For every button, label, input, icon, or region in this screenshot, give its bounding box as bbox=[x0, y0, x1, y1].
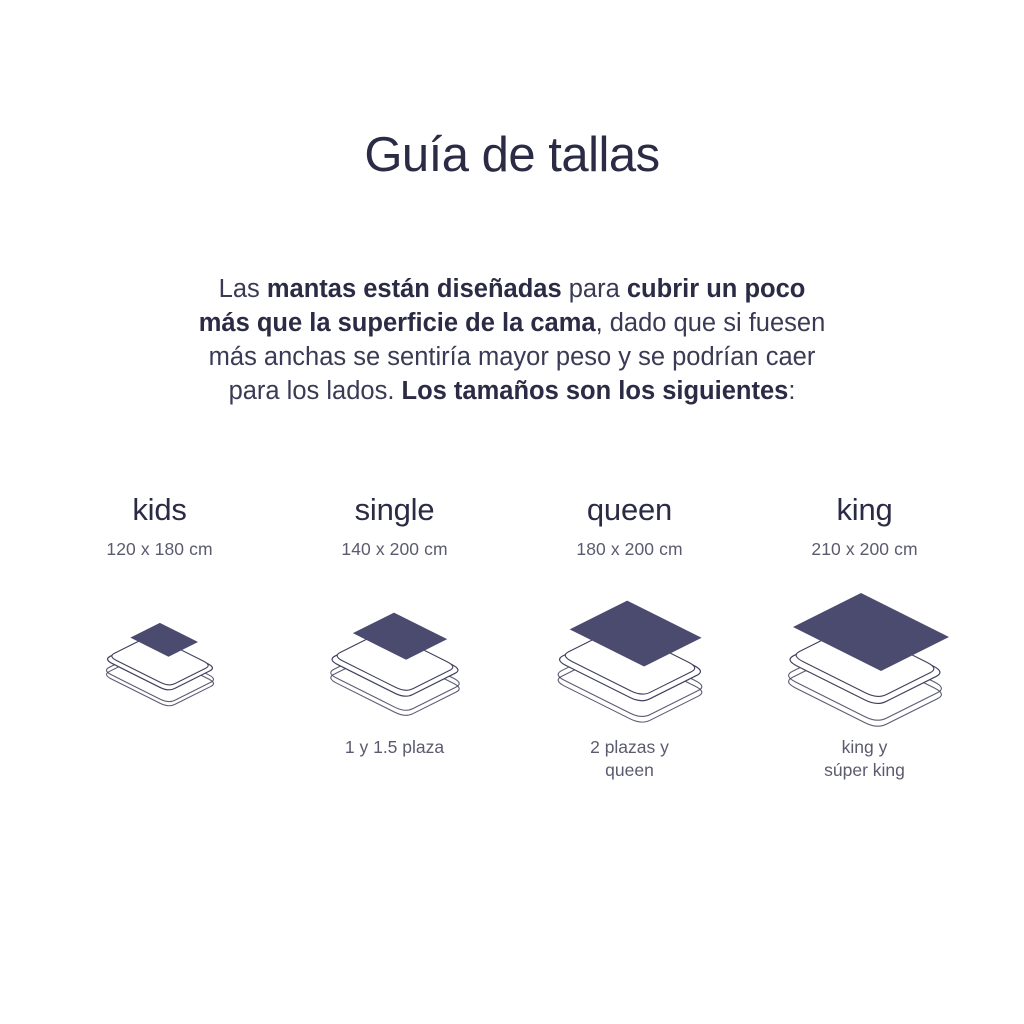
size-caption: 1 y 1.5 plaza bbox=[345, 736, 444, 759]
size-column-single[interactable]: single140 x 200 cm 1 y 1.5 plaza bbox=[277, 492, 512, 759]
intro-line: más anchas se sentiría mayor peso y se p… bbox=[110, 340, 914, 374]
bed-blanket-icon bbox=[60, 576, 260, 726]
bed-blanket-icon bbox=[295, 576, 495, 726]
size-column-king[interactable]: king210 x 200 cm king y súper king bbox=[747, 492, 982, 782]
intro-line: para los lados. Los tamaños son los sigu… bbox=[110, 374, 914, 408]
intro-emphasis: más que la superficie de la cama bbox=[199, 309, 596, 337]
intro-text: , dado que si fuesen bbox=[596, 309, 826, 337]
size-name: queen bbox=[587, 492, 672, 528]
intro-text: : bbox=[788, 377, 795, 405]
intro-text: más anchas se sentiría mayor peso y se p… bbox=[209, 343, 816, 371]
intro-line: Las mantas están diseñadas para cubrir u… bbox=[110, 272, 914, 306]
intro-emphasis: Los tamaños son los siguientes bbox=[402, 377, 789, 405]
intro-emphasis: cubrir un poco bbox=[627, 275, 806, 303]
size-dimensions: 120 x 180 cm bbox=[106, 539, 212, 560]
size-name: king bbox=[836, 492, 892, 528]
size-column-kids[interactable]: kids120 x 180 cm bbox=[42, 492, 277, 736]
size-dimensions: 210 x 200 cm bbox=[811, 539, 917, 560]
size-name: single bbox=[355, 492, 435, 528]
intro-emphasis: mantas están diseñadas bbox=[267, 275, 562, 303]
bed-blanket-icon bbox=[530, 576, 730, 726]
bed-blanket-icon bbox=[765, 576, 965, 726]
size-dimensions: 140 x 200 cm bbox=[341, 539, 447, 560]
intro-paragraph: Las mantas están diseñadas para cubrir u… bbox=[0, 272, 1024, 408]
intro-text: para bbox=[562, 275, 627, 303]
size-guide-page: Guía de tallas Las mantas están diseñada… bbox=[0, 0, 1024, 1024]
size-columns: kids120 x 180 cm single140 x 200 cm 1 y … bbox=[42, 492, 982, 782]
size-caption: king y súper king bbox=[824, 736, 905, 782]
intro-line: más que la superficie de la cama, dado q… bbox=[110, 306, 914, 340]
size-column-queen[interactable]: queen180 x 200 cm 2 plazas y queen bbox=[512, 492, 747, 782]
intro-text: Las bbox=[219, 275, 267, 303]
page-title: Guía de tallas bbox=[0, 129, 1024, 183]
size-name: kids bbox=[132, 492, 186, 528]
intro-text: para los lados. bbox=[229, 377, 402, 405]
size-caption: 2 plazas y queen bbox=[590, 736, 669, 782]
size-dimensions: 180 x 200 cm bbox=[576, 539, 682, 560]
